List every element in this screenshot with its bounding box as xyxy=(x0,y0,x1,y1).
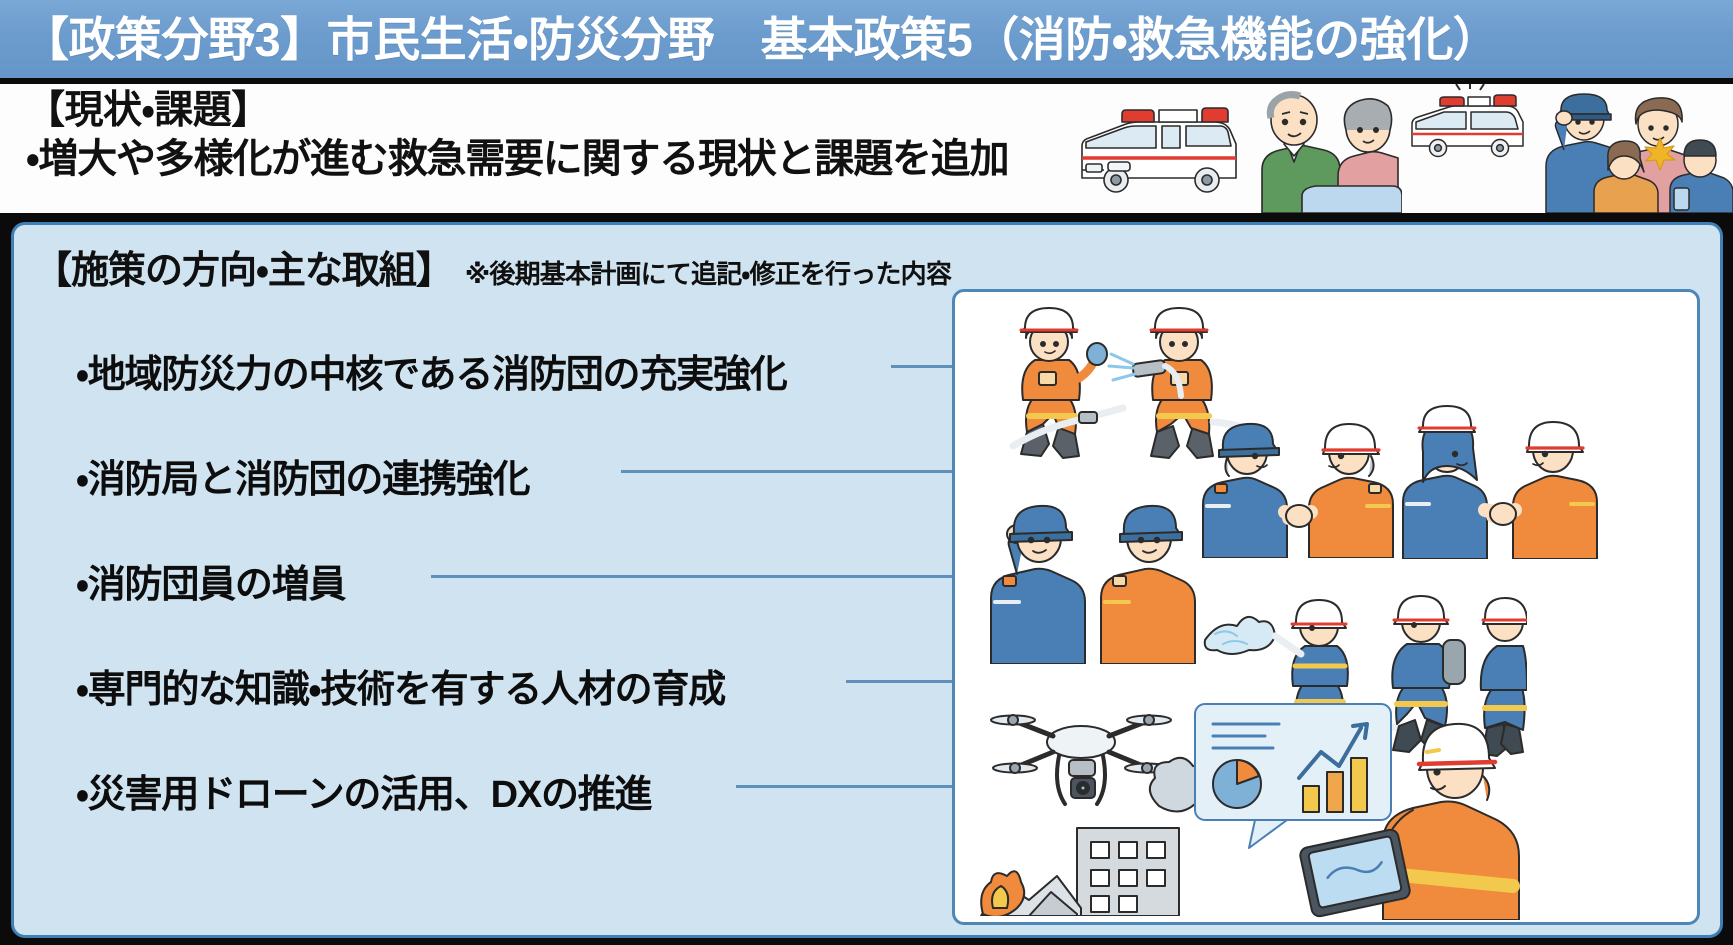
handshake-pair-second-illustration xyxy=(1395,404,1605,559)
measures-panel-header: 【施策の方向・主な取組】 ※後期基本計画にて追記・修正を行った内容 xyxy=(34,239,951,294)
slide-root: 【政策分野3】市民生活・防災分野 基本政策5（消防・救急機能の強化） 【現状・課… xyxy=(0,0,1733,945)
dx-tablet-firefighter-illustration xyxy=(1187,692,1527,920)
current-status-bullet: ・増大や多様化が進む救急需要に関する現状と課題を追加 xyxy=(26,137,1008,182)
list-item[interactable]: ・専門的な知識・技術を有する人材の育成 xyxy=(76,648,956,753)
list-item-label: ・地域防災力の中核である消防団の充実強化 xyxy=(76,343,787,398)
list-item[interactable]: ・地域防災力の中核である消防団の充実強化 xyxy=(76,333,956,438)
slide-title-bar: 【政策分野3】市民生活・防災分野 基本政策5（消防・救急機能の強化） xyxy=(0,0,1733,78)
leader-line xyxy=(431,575,1011,578)
list-item[interactable]: ・災害用ドローンの活用、DXの推進 xyxy=(76,753,956,858)
list-item[interactable]: ・消防局と消防団の連携強化 xyxy=(76,438,956,543)
measures-note: ※後期基本計画にて追記・修正を行った内容 xyxy=(465,254,951,291)
measures-illustration-card xyxy=(952,289,1700,925)
handshake-blue-orange-illustration xyxy=(1193,408,1403,558)
measures-bullet-list: ・地域防災力の中核である消防団の充実強化 ・消防局と消防団の連携強化 ・消防団員… xyxy=(76,333,956,858)
ambulance-officer-emergency-call-illustration xyxy=(1398,84,1733,213)
elderly-couple-illustration xyxy=(1242,84,1402,213)
slide-title-text: 【政策分野3】市民生活・防災分野 基本政策5（消防・救急機能の強化） xyxy=(0,16,1499,63)
current-status-text-block: 【現状・課題】 ・増大や多様化が進む救急需要に関する現状と課題を追加 xyxy=(26,89,1008,181)
measures-heading: 【施策の方向・主な取組】 xyxy=(34,239,453,294)
list-item[interactable]: ・消防団員の増員 xyxy=(76,543,956,648)
list-item-label: ・消防局と消防団の連携強化 xyxy=(76,448,529,503)
list-item-label: ・災害用ドローンの活用、DXの推進 xyxy=(76,763,651,818)
current-status-heading: 【現状・課題】 xyxy=(26,89,1008,133)
measures-panel: 【施策の方向・主な取組】 ※後期基本計画にて追記・修正を行った内容 ・地域防災力… xyxy=(11,222,1723,938)
current-status-section: 【現状・課題】 ・増大や多様化が進む救急需要に関する現状と課題を追加 xyxy=(0,84,1733,213)
list-item-label: ・専門的な知識・技術を有する人材の育成 xyxy=(76,658,725,713)
ambulance-illustration xyxy=(1064,84,1259,213)
salute-officers-illustration xyxy=(977,494,1207,664)
list-item-label: ・消防団員の増員 xyxy=(76,553,345,608)
